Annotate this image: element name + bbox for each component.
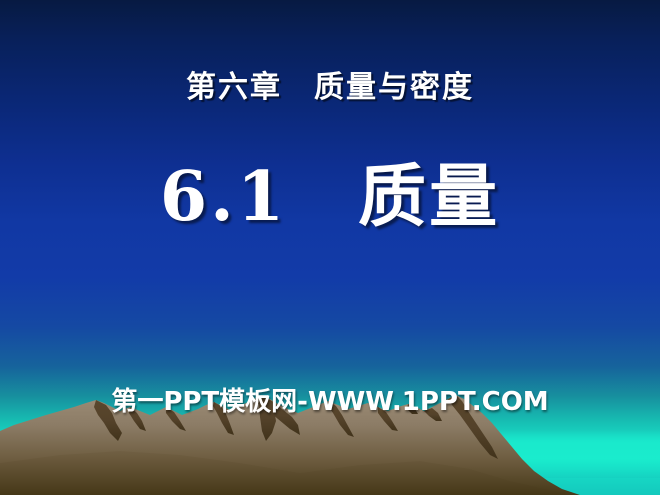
presentation-slide: 第六章 质量与密度 6.1 质量 第一PPT模板网-WWW.1PPT.COM <box>0 0 660 495</box>
watermark-text: 第一PPT模板网-WWW.1PPT.COM <box>0 381 660 418</box>
page-title: 6.1 质量 <box>0 158 660 236</box>
chapter-heading: 第六章 质量与密度 <box>0 62 660 106</box>
